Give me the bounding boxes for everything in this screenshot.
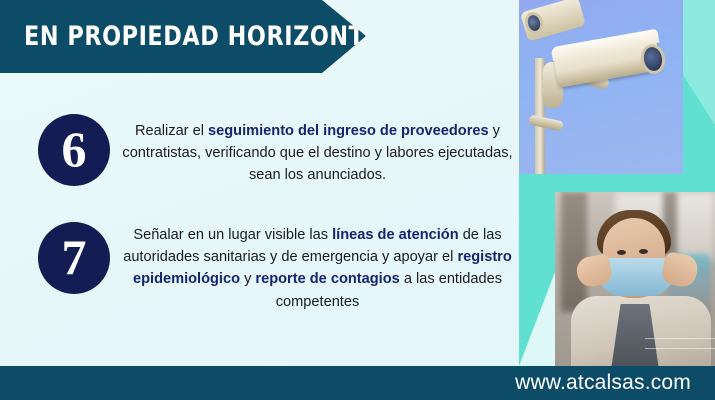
item-number-badge: 6 bbox=[38, 114, 110, 186]
website-url[interactable]: www.atcalsas.com bbox=[515, 371, 691, 395]
photo-background-tree-left bbox=[561, 192, 587, 312]
item-text: Realizar el seguimiento del ingreso de p… bbox=[110, 114, 513, 187]
list-item: 6 Realizar el seguimiento del ingreso de… bbox=[38, 114, 513, 187]
infographic-slide: EN PROPIEDAD HORIZONTAL 6 Realizar el se… bbox=[0, 0, 715, 400]
item-number-badge: 7 bbox=[38, 222, 110, 294]
secondary-camera-arm bbox=[528, 115, 563, 132]
mask-pleat bbox=[645, 338, 715, 339]
security-camera-photo bbox=[519, 0, 683, 174]
footer-bar: www.atcalsas.com bbox=[0, 366, 715, 400]
item-text: Señalar en un lugar visible las líneas d… bbox=[110, 222, 513, 313]
woman-right-eye bbox=[639, 249, 648, 254]
woman-face-mask-photo bbox=[555, 192, 715, 370]
woman-left-eye bbox=[617, 250, 626, 255]
list-item: 7 Señalar en un lugar visible las líneas… bbox=[38, 222, 513, 313]
page-title: EN PROPIEDAD HORIZONTAL bbox=[24, 21, 395, 52]
header-banner: EN PROPIEDAD HORIZONTAL bbox=[0, 0, 366, 73]
mask-pleat bbox=[645, 348, 715, 349]
